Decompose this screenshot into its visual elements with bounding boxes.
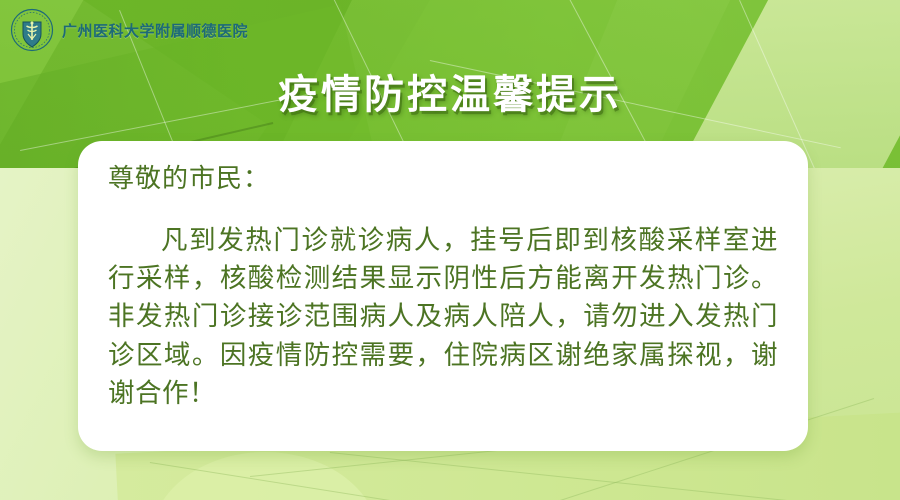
poster-root: 广州医科大学附属顺德医院 疫情防控温馨提示 尊敬的市民： 凡到发热门诊就诊病人，… <box>0 0 900 500</box>
notice-body-text: 凡到发热门诊就诊病人，挂号后即到核酸采样室进行采样，核酸检测结果显示阴性后方能离… <box>108 222 778 414</box>
notice-card: 尊敬的市民： 凡到发热门诊就诊病人，挂号后即到核酸采样室进行采样，核酸检测结果显… <box>78 141 808 451</box>
hospital-logo-group: 广州医科大学附属顺德医院 <box>10 8 248 52</box>
page-title: 疫情防控温馨提示 <box>0 62 900 120</box>
hospital-name-text: 广州医科大学附属顺德医院 <box>62 20 248 41</box>
salutation-text: 尊敬的市民： <box>108 163 778 196</box>
hospital-caduceus-seal-icon <box>10 8 54 52</box>
